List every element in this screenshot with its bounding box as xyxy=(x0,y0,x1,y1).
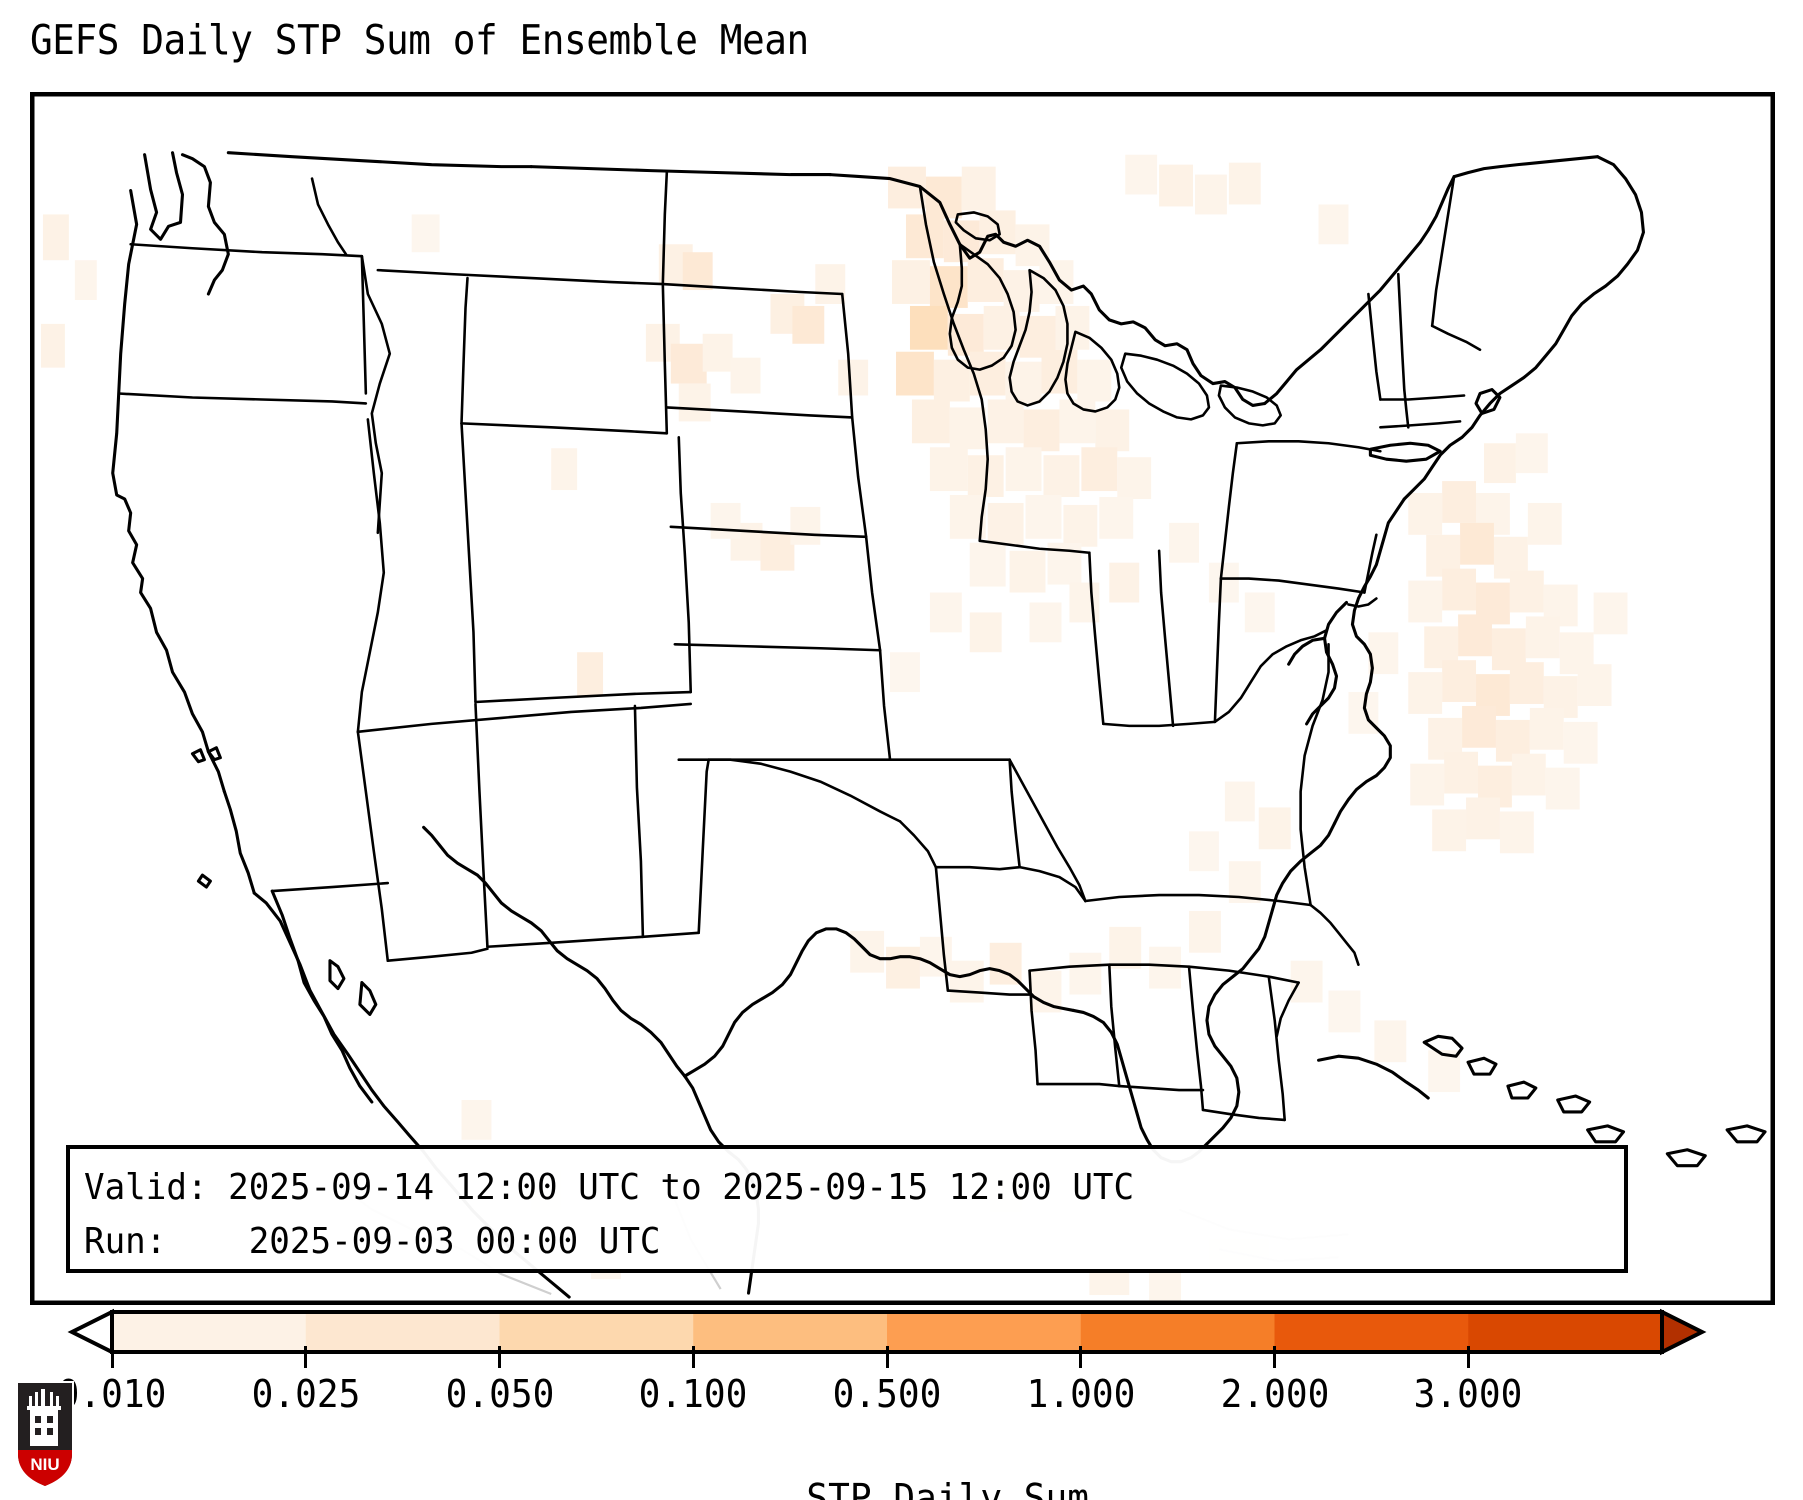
figure-root: GEFS Daily STP Sum of Ensemble Mean xyxy=(0,0,1803,1500)
colorbar-label-0.050: 0.050 xyxy=(445,1372,554,1416)
map-panel[interactable] xyxy=(30,92,1775,1305)
colorbar-label-0.100: 0.100 xyxy=(639,1372,748,1416)
niu-logo: NIU xyxy=(14,1378,76,1490)
colorbar-tick-labels: 0.0100.0250.0500.1000.5001.0002.0003.000 xyxy=(0,1372,1803,1422)
colorbar-tick-0.025 xyxy=(304,1346,307,1368)
colorbar-tick-0.500 xyxy=(886,1346,889,1368)
map-svg xyxy=(33,95,1772,1302)
stp-data-grid xyxy=(41,155,1628,1302)
colorbar-tick-2.000 xyxy=(1273,1346,1276,1368)
colorbar-label-1.000: 1.000 xyxy=(1026,1372,1135,1416)
page-title: GEFS Daily STP Sum of Ensemble Mean xyxy=(30,16,809,64)
colorbar-label-2.000: 2.000 xyxy=(1220,1372,1329,1416)
info-box: Valid: 2025-09-14 12:00 UTC to 2025-09-1… xyxy=(66,1145,1628,1273)
colorbar-ticks xyxy=(72,1330,1702,1356)
colorbar-label-0.025: 0.025 xyxy=(251,1372,360,1416)
logo-text: NIU xyxy=(30,1455,59,1474)
niu-logo-svg: NIU xyxy=(14,1378,76,1490)
colorbar-tick-0.010 xyxy=(111,1346,114,1368)
colorbar-tick-0.100 xyxy=(692,1346,695,1368)
colorbar-tick-1.000 xyxy=(1079,1346,1082,1368)
colorbar-label-0.500: 0.500 xyxy=(833,1372,942,1416)
colorbar-title-text: STP Daily Sum xyxy=(806,1476,1089,1500)
colorbar-tick-3.000 xyxy=(1467,1346,1470,1368)
run-time-line: Run: 2025-09-03 00:00 UTC xyxy=(84,1215,1547,1269)
colorbar-tick-0.050 xyxy=(498,1346,501,1368)
valid-time-line: Valid: 2025-09-14 12:00 UTC to 2025-09-1… xyxy=(84,1161,1547,1215)
colorbar-label-3.000: 3.000 xyxy=(1414,1372,1523,1416)
colorbar-title: STP Daily Sum xyxy=(0,1432,1803,1500)
